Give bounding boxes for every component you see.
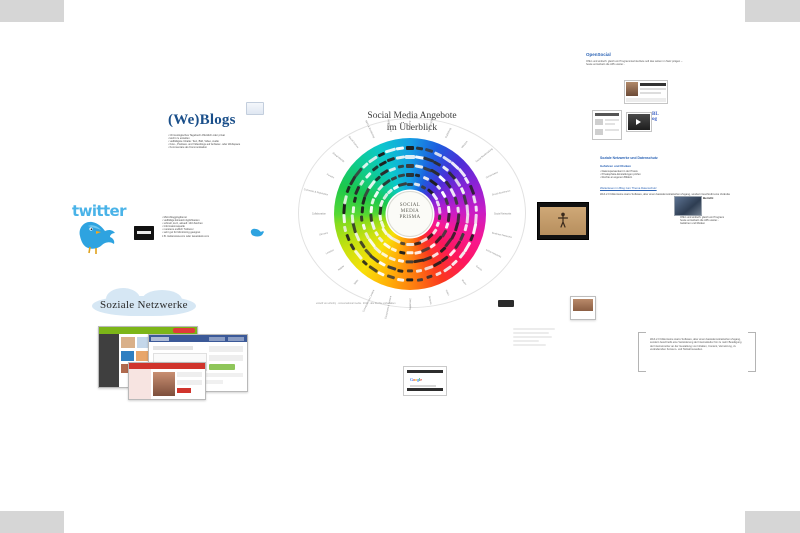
twitter-bird-icon bbox=[74, 216, 120, 256]
faded-text-object bbox=[513, 328, 555, 348]
datenschutz-article[interactable]: Soziale Netzwerke und Datenschutz Gefahr… bbox=[600, 156, 730, 196]
prism-spoke-label: Virtual Worlds bbox=[332, 151, 345, 163]
google-letter: e bbox=[420, 377, 422, 382]
article2-bullet: Rechte an eigenen Bildern bbox=[600, 176, 730, 179]
bracket-right-icon bbox=[748, 332, 756, 372]
prism-spoke-label: Wisdom bbox=[461, 141, 469, 150]
opensocial-player-screenshot[interactable] bbox=[626, 112, 652, 132]
quote-text: Web 2.0 bildet keine starre Software, ab… bbox=[650, 338, 744, 351]
soziale-netzwerke-title: Soziale Netzwerke bbox=[100, 299, 188, 311]
twitter-video-icon[interactable] bbox=[134, 226, 154, 240]
opensocial-body-line: heute entwickeln die APIs weiter... bbox=[586, 63, 736, 66]
opensocial-profile-screenshot[interactable] bbox=[624, 80, 668, 104]
cloud-shape: Soziale Netzwerke bbox=[92, 296, 196, 316]
prism-spoke-label: Blogging bbox=[409, 121, 412, 130]
article2-photo-caption: Bericht bbox=[703, 196, 713, 200]
embedded-video-thumbnail[interactable] bbox=[537, 202, 589, 240]
video-frame bbox=[540, 207, 586, 235]
twitter-small-bird-icon bbox=[249, 226, 265, 238]
article2-link[interactable]: Weiterlesen im Blog zum Thema Datenschut… bbox=[600, 186, 730, 190]
prism-credit: erstellt von ethority · conversational m… bbox=[316, 302, 476, 305]
prism-title-line1: Social Media Angebote bbox=[292, 110, 532, 122]
right-micro-line: Gefahren und Risiken bbox=[680, 222, 724, 225]
article2-heading: Soziale Netzwerke und Datenschutz bbox=[600, 156, 730, 160]
opensocial-widget-screenshot[interactable] bbox=[592, 110, 622, 140]
prism-spoke-label: Social Networks bbox=[494, 213, 511, 216]
article2-photo[interactable] bbox=[674, 196, 702, 216]
polaroid-photo[interactable] bbox=[570, 296, 596, 320]
xing-screenshot[interactable] bbox=[128, 362, 206, 400]
prism-spoke-labels: BloggingMicrobloggingPublishingWisdomSoc… bbox=[334, 138, 486, 290]
prism-badge-icon bbox=[498, 300, 514, 307]
prism-spoke-label: Wikis bbox=[353, 279, 359, 285]
google-wave-screenshot[interactable]: Google bbox=[403, 366, 447, 396]
article2-subheading: Gefahren und Risiken bbox=[600, 164, 730, 168]
viewer-chrome-bottom-left bbox=[0, 511, 64, 533]
opensocial-article[interactable]: OpenSocial Offen und einfach: gleich ein… bbox=[586, 52, 736, 67]
social-media-prism[interactable]: Social Media Angebote im Überblick SOCIA… bbox=[292, 96, 532, 311]
opensocial-heading: OpenSocial bbox=[586, 52, 736, 57]
viewer-chrome-bottom-right bbox=[745, 511, 800, 533]
prism-spoke-label: Mobile bbox=[338, 265, 345, 272]
prezi-canvas[interactable]: (We)Blogs Chronologisches Tagebuch öffen… bbox=[0, 0, 800, 533]
bracket-left-icon bbox=[638, 332, 646, 372]
quote-box: Web 2.0 bildet keine starre Software, ab… bbox=[638, 332, 756, 372]
video-figure-icon bbox=[558, 212, 568, 228]
prism-spoke-label: Music bbox=[461, 279, 467, 286]
twitter-bullet-list: Microbloggingdienst vielfältige Einsatzm… bbox=[162, 216, 267, 238]
prism-spoke-label: Events bbox=[475, 265, 483, 272]
viewer-chrome-top-left bbox=[0, 0, 64, 22]
twitter-cluster[interactable]: twitter Microbloggingdienst vielfältige … bbox=[62, 198, 272, 272]
prism-spoke-label: Collaboration bbox=[312, 213, 326, 216]
prism-spoke-label: Social Games bbox=[347, 136, 359, 150]
right-micro-textblock: Offen und einfach: gleich ein Programmie… bbox=[680, 216, 724, 225]
prism-title-line2: im Überblick bbox=[292, 122, 532, 134]
opensocial-logo-text: BLog bbox=[652, 112, 659, 122]
polaroid-image bbox=[573, 299, 593, 311]
weblogs-thumbnail-icon bbox=[246, 102, 264, 115]
google-logo-text: Google bbox=[410, 377, 422, 382]
soziale-netzwerke-cluster[interactable]: Soziale Netzwerke bbox=[92, 296, 262, 396]
prism-title: Social Media Angebote im Überblick bbox=[292, 110, 532, 134]
viewer-chrome-top-right bbox=[745, 0, 800, 22]
